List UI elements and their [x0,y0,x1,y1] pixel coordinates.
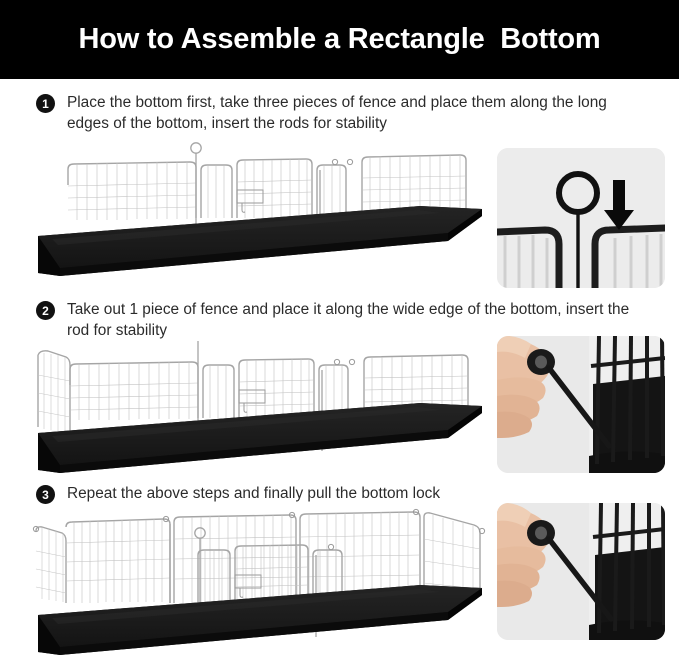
instruction-sheet: How to Assemble a Rectangle Bottom 1 Pla… [0,0,679,666]
step-1-illustration [30,140,490,295]
hand-holding-rod-photo-svg [497,336,665,473]
step-1-text: Place the bottom first, take three piece… [67,92,636,134]
step-1: 1 Place the bottom first, take three pie… [0,92,679,290]
tray-base [38,403,482,473]
step-1-inset [497,148,665,288]
step-3-inset [497,503,665,640]
step-3-text: Repeat the above steps and finally pull … [67,483,440,504]
tray-base [38,585,482,655]
hand-pulling-bottom-lock-photo-svg [497,503,665,640]
step-2: 2 Take out 1 piece of fence and place it… [0,299,679,481]
step-2-heading: 2 Take out 1 piece of fence and place it… [36,299,636,341]
tray-base [38,206,482,276]
step-1-badge: 1 [36,94,55,113]
playpen-three-panels-svg [30,140,490,290]
step-2-text: Take out 1 piece of fence and place it a… [67,299,636,341]
playpen-complete-svg [30,507,490,657]
step-3-badge: 3 [36,485,55,504]
step-3-heading: 3 Repeat the above steps and finally pul… [36,483,636,504]
playpen-short-edge-svg [30,341,490,486]
rod-insert-diagram-svg [497,148,665,288]
step-2-badge: 2 [36,301,55,320]
step-1-heading: 1 Place the bottom first, take three pie… [36,92,636,134]
page-title: How to Assemble a Rectangle Bottom [78,23,600,56]
step-2-inset [497,336,665,473]
step-3-illustration [30,507,490,662]
step-3: 3 Repeat the above steps and finally pul… [0,483,679,666]
step-2-illustration [30,341,490,491]
header-banner: How to Assemble a Rectangle Bottom [0,0,679,79]
